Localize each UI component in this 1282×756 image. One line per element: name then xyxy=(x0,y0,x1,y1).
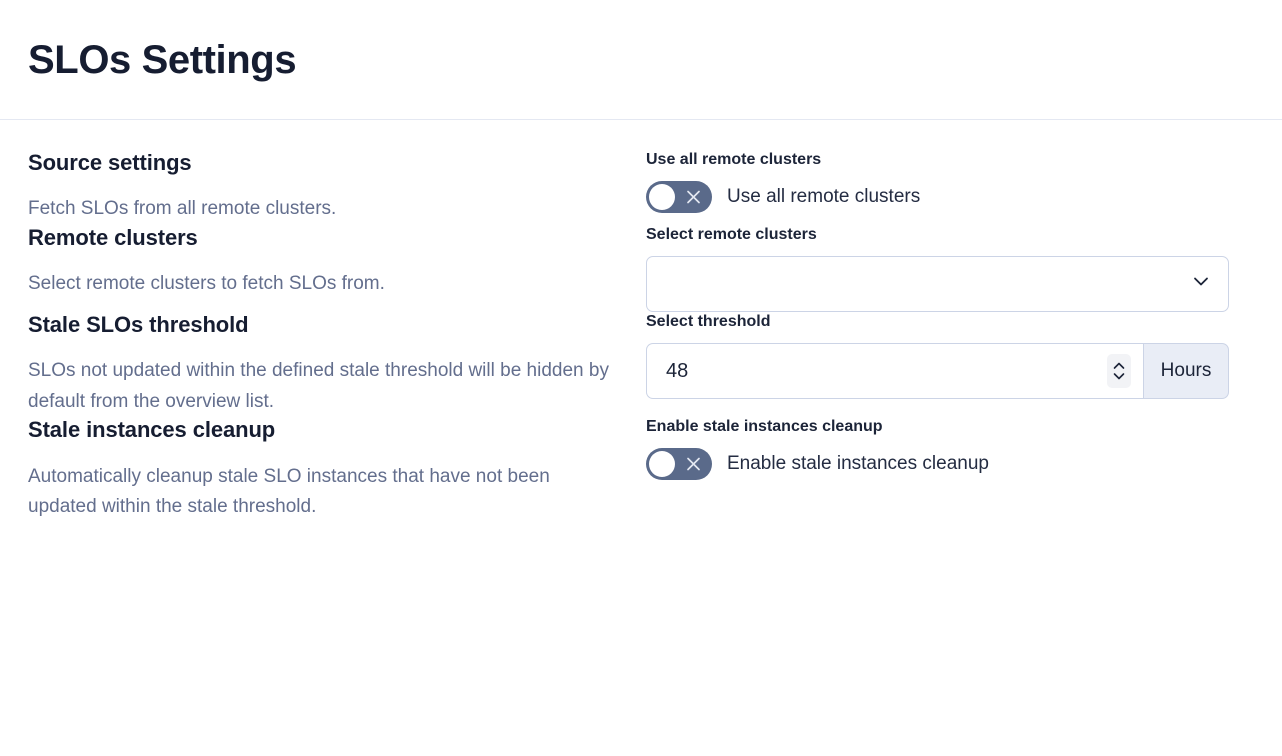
section-text-stale-instances-cleanup: Automatically cleanup stale SLO instance… xyxy=(28,462,613,523)
field-label-enable-stale-instances-cleanup: Enable stale instances cleanup xyxy=(646,417,1254,436)
threshold-number-field[interactable] xyxy=(646,343,1143,399)
section-text-stale-slos-threshold: SLOs not updated within the defined stal… xyxy=(28,356,613,417)
page-header: SLOs Settings xyxy=(0,0,1282,120)
toggle-label-enable-stale-instances-cleanup: Enable stale instances cleanup xyxy=(727,453,989,476)
section-stale-instances-cleanup: Stale instances cleanup Automatically cl… xyxy=(28,417,1254,522)
threshold-unit-suffix: Hours xyxy=(1143,343,1229,399)
section-remote-clusters: Remote clusters Select remote clusters t… xyxy=(28,225,1254,312)
chevron-down-icon[interactable] xyxy=(1190,270,1212,297)
field-label-use-all-remote-clusters: Use all remote clusters xyxy=(646,150,1254,169)
threshold-input[interactable] xyxy=(666,359,1107,383)
section-description-remote-clusters: Remote clusters Select remote clusters t… xyxy=(28,225,646,300)
section-source-settings: Source settings Fetch SLOs from all remo… xyxy=(28,150,1254,225)
section-control-remote-clusters: Select remote clusters xyxy=(646,225,1254,312)
toggle-group-use-all-remote-clusters: Use all remote clusters xyxy=(646,181,1254,213)
section-heading-source-settings: Source settings xyxy=(28,150,622,176)
select-remote-clusters[interactable] xyxy=(646,256,1229,312)
section-text-source-settings: Fetch SLOs from all remote clusters. xyxy=(28,194,613,224)
section-description-stale-slos-threshold: Stale SLOs threshold SLOs not updated wi… xyxy=(28,312,646,417)
up-down-stepper-icon[interactable] xyxy=(1107,354,1131,388)
field-label-select-threshold: Select threshold xyxy=(646,312,1254,331)
close-x-icon xyxy=(686,190,701,205)
section-control-stale-instances-cleanup: Enable stale instances cleanup Enable st… xyxy=(646,417,1254,480)
field-label-select-remote-clusters: Select remote clusters xyxy=(646,225,1254,244)
section-control-stale-slos-threshold: Select threshold Hours xyxy=(646,312,1254,399)
section-heading-stale-slos-threshold: Stale SLOs threshold xyxy=(28,312,622,338)
section-stale-slos-threshold: Stale SLOs threshold SLOs not updated wi… xyxy=(28,312,1254,417)
section-heading-stale-instances-cleanup: Stale instances cleanup xyxy=(28,417,622,443)
section-description-stale-instances-cleanup: Stale instances cleanup Automatically cl… xyxy=(28,417,646,522)
section-heading-remote-clusters: Remote clusters xyxy=(28,225,622,251)
toggle-knob xyxy=(649,451,675,477)
slos-settings-page: SLOs Settings Source settings Fetch SLOs… xyxy=(0,0,1282,756)
toggle-group-enable-stale-instances-cleanup: Enable stale instances cleanup xyxy=(646,448,1254,480)
section-control-source-settings: Use all remote clusters Use all remote c… xyxy=(646,150,1254,213)
threshold-input-group: Hours xyxy=(646,343,1229,399)
toggle-use-all-remote-clusters[interactable] xyxy=(646,181,712,213)
toggle-knob xyxy=(649,184,675,210)
page-title: SLOs Settings xyxy=(28,38,296,82)
section-text-remote-clusters: Select remote clusters to fetch SLOs fro… xyxy=(28,269,613,299)
toggle-enable-stale-instances-cleanup[interactable] xyxy=(646,448,712,480)
close-x-icon xyxy=(686,457,701,472)
settings-body: Source settings Fetch SLOs from all remo… xyxy=(0,120,1282,522)
toggle-label-use-all-remote-clusters: Use all remote clusters xyxy=(727,186,920,209)
section-description-source-settings: Source settings Fetch SLOs from all remo… xyxy=(28,150,646,225)
